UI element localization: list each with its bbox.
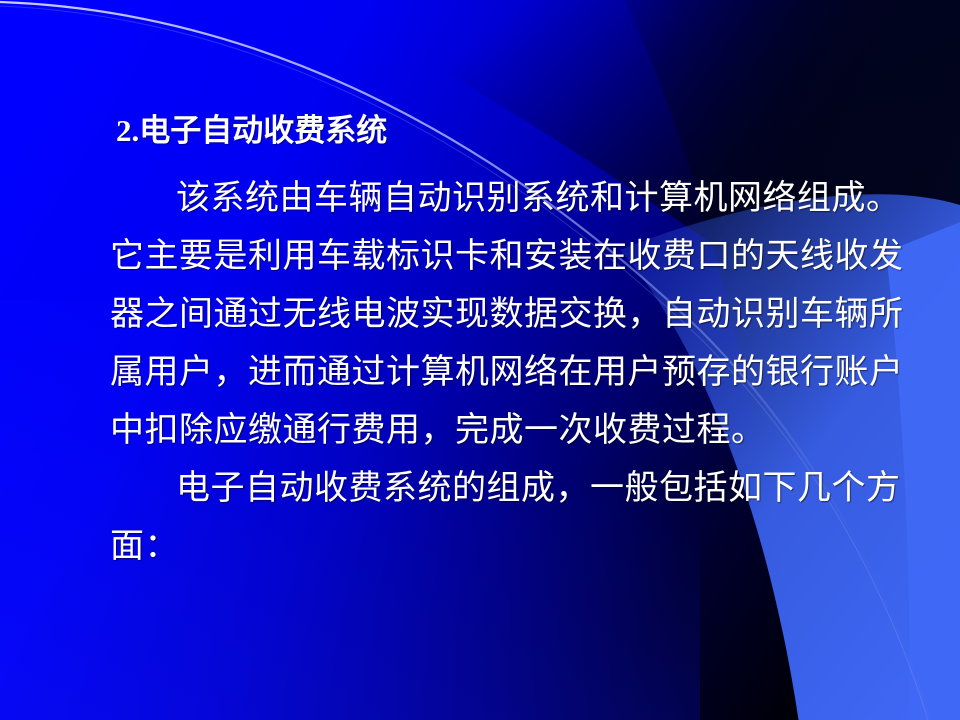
slide-body: 该系统由车辆自动识别系统和计算机网络组成。 它主要是利用车载标识卡和安装在收费口… <box>110 170 900 576</box>
slide-content: 2.电子自动收费系统 该系统由车辆自动识别系统和计算机网络组成。 它主要是利用车… <box>0 0 960 720</box>
body-line-3: 器之间通过无线电波实现数据交换，自动识别车辆所 <box>110 286 900 344</box>
body-line-7: 面： <box>110 518 900 576</box>
body-line-1: 该系统由车辆自动识别系统和计算机网络组成。 <box>110 170 900 228</box>
body-line-2: 它主要是利用车载标识卡和安装在收费口的天线收发 <box>110 228 900 286</box>
presentation-slide: 2.电子自动收费系统 该系统由车辆自动识别系统和计算机网络组成。 它主要是利用车… <box>0 0 960 720</box>
body-line-5: 中扣除应缴通行费用，完成一次收费过程。 <box>110 402 900 460</box>
slide-title: 2.电子自动收费系统 <box>116 111 387 151</box>
body-line-6: 电子自动收费系统的组成，一般包括如下几个方 <box>110 460 900 518</box>
body-line-4: 属用户，进而通过计算机网络在用户预存的银行账户 <box>110 344 900 402</box>
